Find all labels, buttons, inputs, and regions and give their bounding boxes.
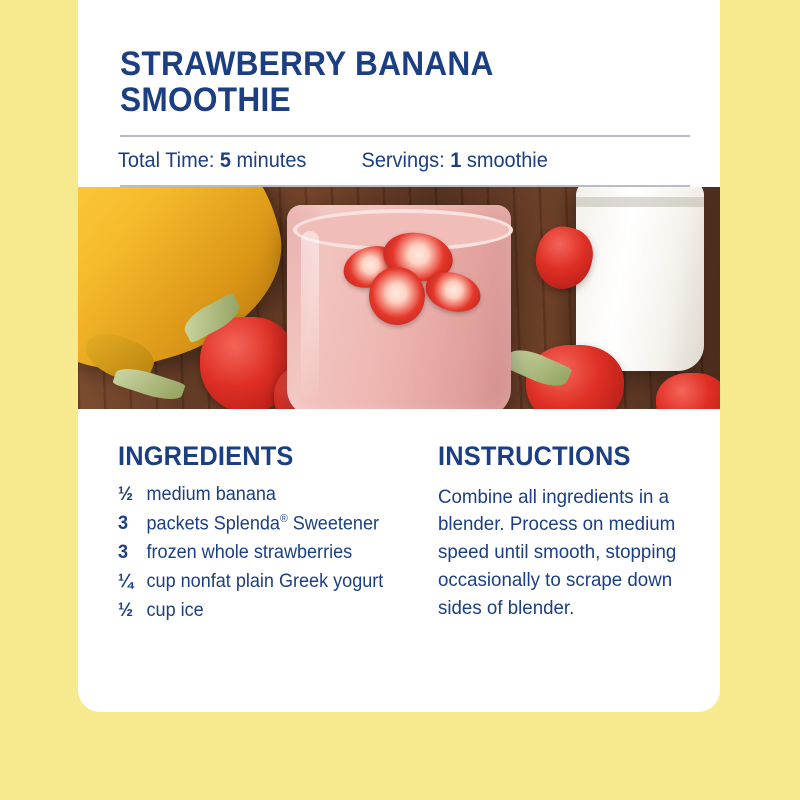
ingredient-description: cup ice xyxy=(147,600,204,622)
ingredients-list: ½medium banana3packets Splenda® Sweetene… xyxy=(118,484,430,622)
ingredient-item: 3packets Splenda® Sweetener xyxy=(118,513,414,535)
instructions-section: INSTRUCTIONS Combine all ingredients in … xyxy=(430,441,694,629)
servings-unit: smoothie xyxy=(461,149,547,172)
ingredient-quantity: 3 xyxy=(118,542,147,564)
ingredient-quantity: ¼ xyxy=(118,571,147,593)
servings-value: 1 xyxy=(450,149,461,172)
total-time-label: Total Time: xyxy=(118,149,220,172)
total-time-value: 5 xyxy=(220,149,231,172)
servings: Servings: 1 smoothie xyxy=(362,149,548,173)
ingredient-description: packets Splenda® Sweetener xyxy=(147,513,380,535)
servings-label: Servings: xyxy=(362,149,451,172)
recipe-meta: Total Time: 5 minutes Servings: 1 smooth… xyxy=(78,137,688,185)
recipe-card: STRAWBERRY BANANA SMOOTHIE Total Time: 5… xyxy=(78,0,720,712)
page-title: STRAWBERRY BANANA SMOOTHIE xyxy=(120,46,650,119)
ingredients-heading: INGREDIENTS xyxy=(118,441,411,472)
ingredient-item: ¼cup nonfat plain Greek yogurt xyxy=(118,571,414,593)
ingredient-quantity: 3 xyxy=(118,513,147,535)
smoothie-glass xyxy=(287,205,511,409)
recipe-body: INGREDIENTS ½medium banana3packets Splen… xyxy=(78,409,720,629)
ingredient-item: 3frozen whole strawberries xyxy=(118,542,414,564)
ingredient-item: ½medium banana xyxy=(118,484,414,506)
total-time-unit: minutes xyxy=(231,149,306,172)
ingredient-description: cup nonfat plain Greek yogurt xyxy=(147,571,384,593)
instructions-body: Combine all ingredients in a blender. Pr… xyxy=(438,484,684,622)
yogurt-jar xyxy=(576,187,704,371)
ingredients-section: INGREDIENTS ½medium banana3packets Splen… xyxy=(118,441,430,629)
ingredient-item: ½cup ice xyxy=(118,600,414,622)
ingredient-description: frozen whole strawberries xyxy=(147,542,353,564)
recipe-header: STRAWBERRY BANANA SMOOTHIE xyxy=(78,0,720,119)
registered-trademark-symbol: ® xyxy=(280,513,288,525)
yogurt-jar-rim xyxy=(576,197,704,207)
ingredient-quantity: ½ xyxy=(118,484,147,506)
glass-highlight xyxy=(301,231,319,399)
total-time: Total Time: 5 minutes xyxy=(118,149,307,173)
recipe-photo xyxy=(78,187,720,409)
instructions-heading: INSTRUCTIONS xyxy=(438,441,679,472)
ingredient-description: medium banana xyxy=(147,484,276,506)
ingredient-quantity: ½ xyxy=(118,600,147,622)
